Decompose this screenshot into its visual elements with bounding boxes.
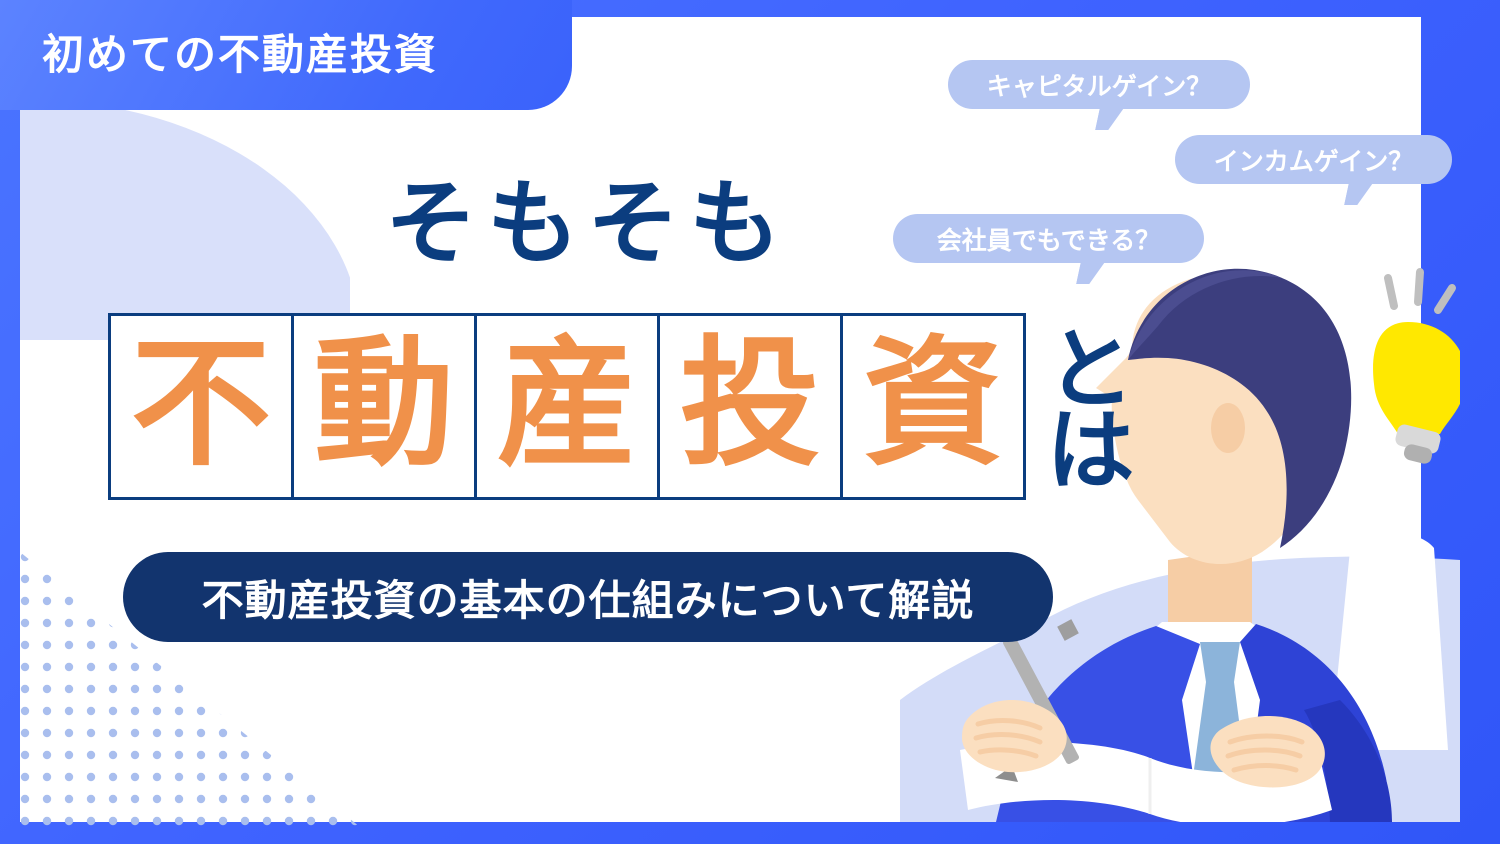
boxed-title-cell: 資 [840, 313, 1026, 500]
speech-bubble-capital-gain-label: キャピタルゲイン？ [987, 67, 1212, 103]
corner-curve-decoration [20, 110, 350, 340]
speech-bubble-income-gain: インカムゲイン？ [1175, 135, 1452, 184]
boxed-title-cell: 不 [108, 313, 294, 500]
boxed-title-cell: 動 [291, 313, 477, 500]
boxed-title-char: 投 [680, 334, 820, 474]
boxed-title-cell: 産 [474, 313, 660, 500]
ear [1211, 403, 1245, 453]
subtitle-label: 不動産投資の基本の仕組みについて解説 [202, 567, 975, 628]
title-suffix-bottom: は [1043, 411, 1138, 492]
speech-bubble-employee: 会社員でもできる？ [893, 214, 1204, 263]
speech-bubble-tail [1344, 179, 1376, 205]
boxed-title-char: 動 [314, 334, 454, 474]
speech-bubble-tail [1076, 258, 1108, 284]
poster-canvas: 初めての不動産投資 [0, 0, 1500, 844]
speech-bubble-income-gain-label: インカムゲイン？ [1214, 142, 1414, 178]
header-badge: 初めての不動産投資 [0, 0, 572, 110]
title-suffix: と は [1043, 330, 1138, 492]
subtitle-pill: 不動産投資の基本の仕組みについて解説 [123, 552, 1053, 642]
boxed-title-char: 不 [131, 334, 271, 474]
speech-bubble-capital-gain: キャピタルゲイン？ [948, 60, 1250, 109]
boxed-title: 不 動 産 投 資 [108, 313, 1026, 500]
boxed-title-char: 資 [863, 334, 1003, 474]
title-suffix-top: と [1043, 330, 1138, 411]
lightbulb-rays [1388, 272, 1452, 310]
boxed-title-cell: 投 [657, 313, 843, 500]
boxed-title-char: 産 [497, 334, 637, 474]
lightbulb-icon [1373, 322, 1460, 465]
speech-bubble-employee-label: 会社員でもできる？ [937, 221, 1161, 257]
speech-bubble-tail [1095, 104, 1127, 130]
hero-lead-text: そもそも [385, 178, 791, 270]
header-badge-label: 初めての不動産投資 [42, 34, 438, 76]
